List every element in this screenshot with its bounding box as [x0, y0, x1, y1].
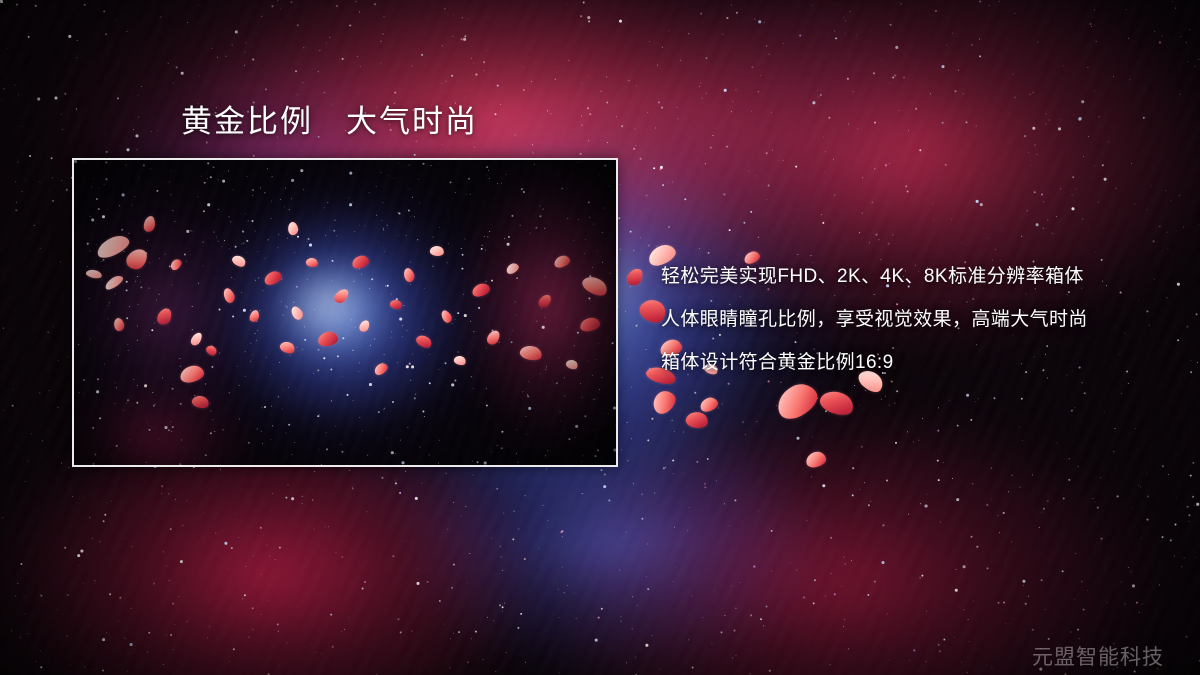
panel-petal [402, 267, 417, 284]
panel-petal [389, 298, 403, 310]
panel-petal [94, 232, 132, 261]
panel-petal [123, 245, 151, 273]
panel-petal [579, 316, 601, 332]
framed-image-panel[interactable] [72, 158, 618, 467]
panel-petal [155, 306, 173, 327]
panel-starfield [74, 160, 616, 465]
panel-petal [191, 394, 211, 411]
panel-petal [305, 257, 319, 269]
panel-petal [112, 317, 126, 332]
panel-petal [287, 221, 299, 236]
panel-petal [317, 331, 339, 348]
panel-petal [505, 261, 521, 275]
panel-petal [485, 328, 502, 346]
panel-petal [372, 361, 389, 377]
panel-image [74, 160, 616, 465]
panel-petal [278, 339, 296, 355]
description-line-3: 箱体设计符合黄金比例16:9 [661, 341, 1181, 384]
panel-petal [358, 319, 371, 334]
panel-petal [429, 245, 445, 257]
panel-petal [179, 364, 206, 385]
description-line-2: 人体眼睛瞳孔比例，享受视觉效果，高端大气时尚 [661, 298, 1181, 341]
panel-petal [103, 273, 125, 291]
slide-canvas: 黄金比例 大气时尚 轻松完美实现FHD、2K、4K、8K标准分辨率箱体 人体眼睛… [0, 0, 1200, 675]
panel-petal [204, 343, 218, 357]
panel-petal [289, 304, 305, 321]
panel-petal [414, 333, 433, 351]
panel-filament-texture [74, 160, 616, 465]
panel-petal [351, 254, 370, 270]
description-line-1: 轻松完美实现FHD、2K、4K、8K标准分辨率箱体 [661, 255, 1181, 298]
panel-petal [230, 253, 247, 269]
panel-petal [262, 269, 283, 286]
feature-description: 轻松完美实现FHD、2K、4K、8K标准分辨率箱体 人体眼睛瞳孔比例，享受视觉效… [661, 255, 1181, 384]
panel-nebula-left [74, 160, 291, 465]
panel-petal [580, 273, 611, 300]
panel-star-layer-medium [74, 160, 76, 162]
panel-petal [537, 292, 553, 309]
company-watermark: 元盟智能科技 [1032, 645, 1164, 671]
panel-petal [439, 309, 454, 325]
panel-petal [519, 344, 544, 363]
panel-petal [169, 257, 184, 272]
panel-petal [565, 358, 580, 371]
panel-star-layer-bright [74, 160, 77, 163]
panel-nebula-red-bottom [74, 374, 280, 466]
panel-petal [189, 331, 204, 348]
panel-nebula-blue [139, 160, 562, 465]
panel-nebula-core [237, 227, 421, 386]
panel-petal [332, 286, 351, 305]
panel-nebula-red-right [443, 160, 616, 465]
panel-petal [471, 282, 492, 298]
panel-petal [453, 354, 467, 367]
panel-petal [553, 254, 572, 269]
slide-title: 黄金比例 大气时尚 [181, 102, 478, 142]
panel-star-layer-small [74, 160, 75, 161]
panel-petal [249, 309, 260, 323]
panel-petal [143, 215, 156, 232]
panel-petal [221, 287, 237, 305]
panel-petal [85, 268, 102, 280]
panel-vignette [74, 160, 616, 465]
